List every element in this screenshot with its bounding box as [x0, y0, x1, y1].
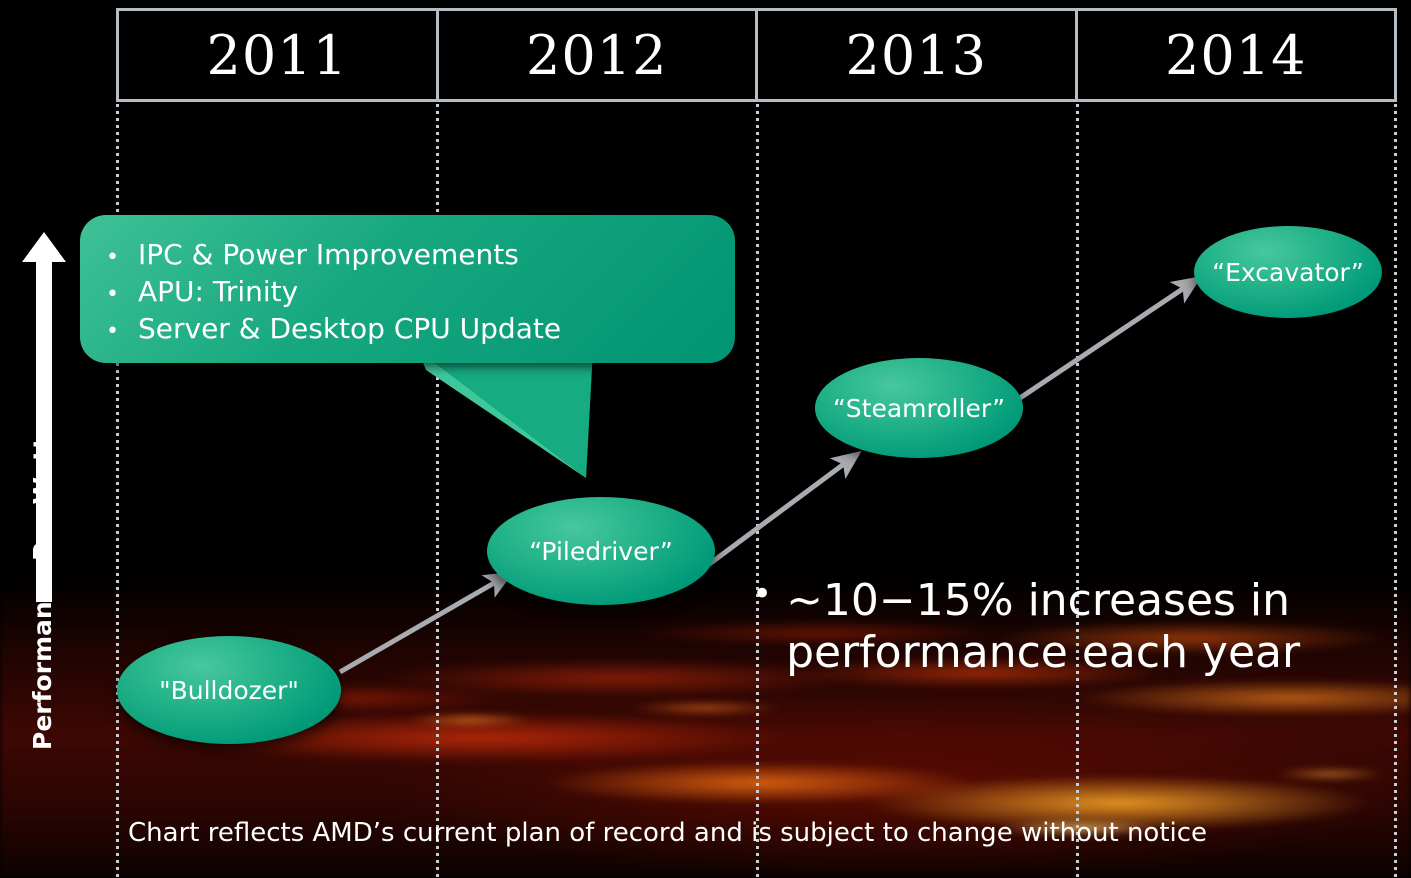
- gridline-2014-right: [1394, 104, 1397, 878]
- slide-canvas: 2011 2012 2013 2014 Performance Per Watt…: [0, 0, 1411, 878]
- year-label-2013: 2013: [846, 24, 987, 87]
- node-piledriver[interactable]: “Piledriver”: [487, 497, 715, 605]
- node-excavator[interactable]: “Excavator”: [1194, 226, 1382, 318]
- annotation-line-1: ~10−15% increases in: [786, 575, 1290, 626]
- year-header-cell-2012: 2012: [439, 11, 759, 99]
- year-header-cell-2014: 2014: [1078, 11, 1395, 99]
- bullet-icon: •: [752, 575, 772, 614]
- annotation-line-2: performance each year: [786, 627, 1300, 678]
- node-steamroller[interactable]: “Steamroller”: [815, 358, 1023, 458]
- year-label-2014: 2014: [1165, 24, 1306, 87]
- node-label: “Excavator”: [1212, 258, 1364, 287]
- callout-item-label: IPC & Power Improvements: [138, 237, 519, 274]
- year-header-cell-2013: 2013: [758, 11, 1078, 99]
- callout-item-label: APU: Trinity: [138, 274, 298, 311]
- year-header-table: 2011 2012 2013 2014: [116, 8, 1397, 102]
- callout-item-ipc-power: • IPC & Power Improvements: [106, 237, 735, 274]
- callout-item-apu-trinity: • APU: Trinity: [106, 274, 735, 311]
- bullet-icon: •: [106, 317, 138, 346]
- node-label: “Piledriver”: [529, 537, 673, 566]
- callout-list: • IPC & Power Improvements • APU: Trinit…: [80, 215, 735, 348]
- annotation-row: • ~10−15% increases in performance each …: [752, 575, 1352, 679]
- callout-item-server-desktop: • Server & Desktop CPU Update: [106, 311, 735, 348]
- node-bulldozer[interactable]: "Bulldozer": [117, 636, 341, 744]
- arrow-steamroller-to-excavator: [1020, 280, 1196, 398]
- year-header-cell-2011: 2011: [119, 11, 439, 99]
- year-label-2012: 2012: [526, 24, 667, 87]
- gridline-2013-2014: [1076, 104, 1079, 878]
- performance-annotation: • ~10−15% increases in performance each …: [752, 575, 1352, 679]
- bullet-icon: •: [106, 243, 138, 272]
- annotation-text: ~10−15% increases in performance each ye…: [786, 575, 1300, 679]
- callout-item-label: Server & Desktop CPU Update: [138, 311, 561, 348]
- bullet-icon: •: [106, 280, 138, 309]
- disclaimer-text: Chart reflects AMD’s current plan of rec…: [128, 818, 1207, 848]
- gridline-2012-2013: [756, 104, 759, 878]
- callout-box: • IPC & Power Improvements • APU: Trinit…: [80, 215, 735, 363]
- arrow-piledriver-to-steamroller: [704, 455, 856, 568]
- callout-tail: [418, 348, 633, 483]
- y-axis-label: Performance Per Watt: [28, 490, 68, 750]
- year-label-2011: 2011: [207, 24, 348, 87]
- node-label: “Steamroller”: [833, 394, 1005, 423]
- node-label: "Bulldozer": [159, 676, 299, 705]
